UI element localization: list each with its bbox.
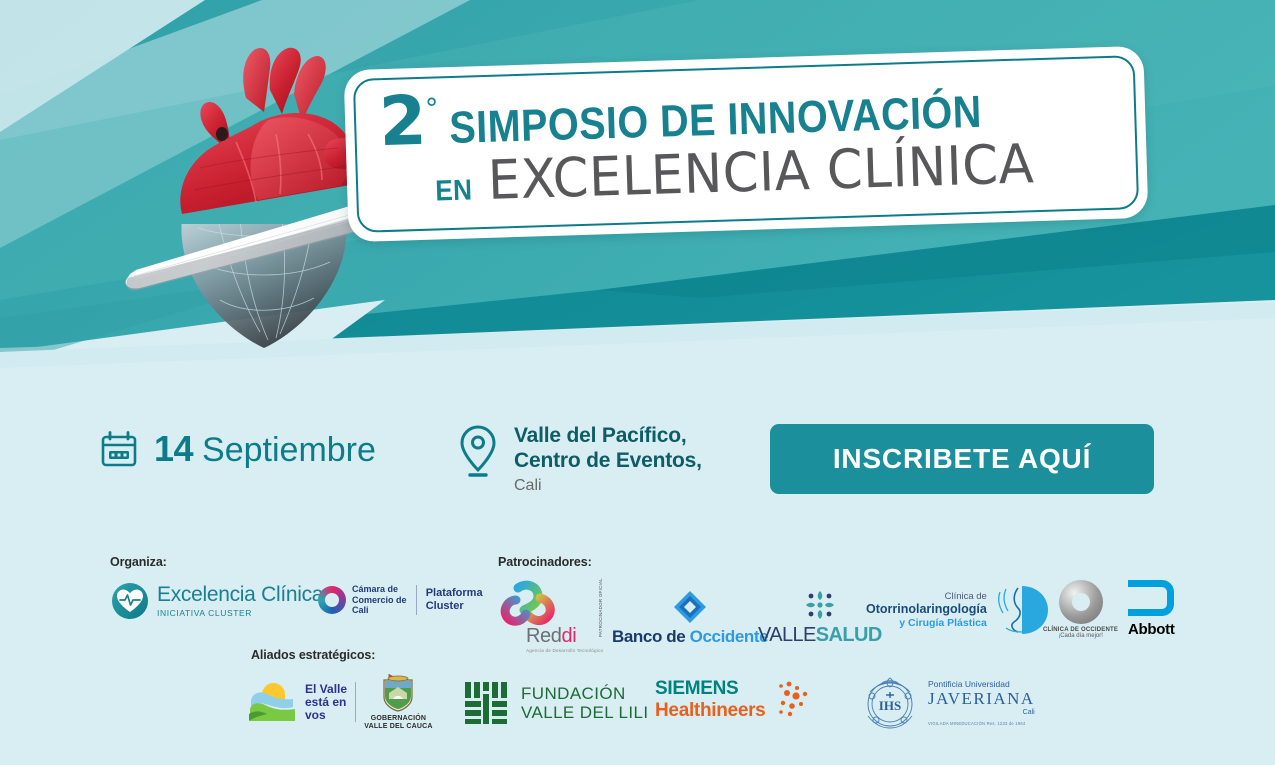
gobernacion-line-1: GOBERNACIÓN <box>364 715 432 723</box>
camara-divider <box>416 585 417 615</box>
vallesalud-word-a: VALLE <box>758 624 816 646</box>
javeriana-line-3: Cali <box>928 709 1035 716</box>
label-aliados: Aliados estratégicos: <box>251 648 375 662</box>
camara-line-1: Cámara de <box>352 584 407 595</box>
logo-pontificia-universidad-javeriana: IHS Pontificia Universidad JAVERIANA Cal… <box>860 672 1035 732</box>
elvalle-divider <box>355 682 356 722</box>
logo-fundacion-valle-del-lili: FUNDACIÓN VALLE DEL LILI <box>463 680 649 726</box>
event-location: Valle del Pacífico, Centro de Eventos, C… <box>458 424 702 495</box>
gobernacion-text: GOBERNACIÓN VALLE DEL CAUCA <box>364 715 432 732</box>
elvalle-line-2: está en <box>305 696 347 709</box>
logo-el-valle-esta-en-vos: El Valle está en vos GOBERNACIÓN VALLE D… <box>247 673 433 732</box>
vallesalud-text: VALLESALUD <box>758 624 882 647</box>
logo-clinica-otorrinolaringologia: Clínica de Otorrinolaringología y Cirugí… <box>866 584 1054 636</box>
label-organiza: Organiza: <box>110 555 167 569</box>
fvl-text: FUNDACIÓN VALLE DEL LILI <box>521 684 649 723</box>
excelencia-name: Excelencia Clínica <box>157 584 323 605</box>
banco-word-b: Occidente <box>690 627 769 646</box>
healthineers-dots-icon <box>771 679 817 721</box>
register-button[interactable]: INSCRIBETE AQUÍ <box>770 424 1154 494</box>
siemens-line-1: SIEMENS <box>655 678 765 700</box>
javeriana-line-2: JAVERIANA <box>928 689 1035 709</box>
abbott-name: Abbott <box>1128 621 1175 638</box>
register-button-label: INSCRIBETE AQUÍ <box>833 443 1091 475</box>
plataforma-line-1: Plataforma <box>426 587 483 600</box>
banco-diamond-icon <box>673 590 707 624</box>
occidente-line-2: ¡Cada día mejor! <box>1058 633 1103 639</box>
otorrino-text: Clínica de Otorrinolaringología y Cirugí… <box>866 591 987 629</box>
event-date: 14 Septiembre <box>100 428 376 470</box>
edition-number: 2 <box>378 90 425 153</box>
javeriana-crest-icon: IHS <box>860 672 920 732</box>
logo-camara-comercio-cali: Cámara de Comercio de Cali Plataforma Cl… <box>318 584 483 616</box>
elvalle-text: El Valle está en vos <box>305 683 347 722</box>
degree-symbol: ° <box>425 93 439 124</box>
reddi-name: Reddi <box>526 626 603 646</box>
excelencia-text: Excelencia Clínica INICIATIVA CLUSTER <box>157 584 323 618</box>
reddi-tagline: Agencia de Desarrollo Tecnológico <box>526 648 603 653</box>
reddi-name-a: Red <box>526 625 562 647</box>
date-day: 14 <box>154 428 193 470</box>
valle-landscape-icon <box>247 680 299 724</box>
logo-reddi: Reddi Agencia de Desarrollo Tecnológico <box>500 580 603 653</box>
camara-line-3: Cali <box>352 605 407 616</box>
svg-text:IHS: IHS <box>879 698 901 713</box>
gobernacion-line-2: VALLE DEL CAUCA <box>364 723 432 731</box>
date-month: Septiembre <box>202 431 376 470</box>
abbott-mark-icon <box>1128 580 1174 616</box>
excelencia-tagline: INICIATIVA CLUSTER <box>157 608 323 618</box>
otorrino-line-3: y Cirugía Plástica <box>866 617 987 629</box>
calendar-icon <box>100 430 138 468</box>
location-line-1: Valle del Pacífico, <box>514 424 702 449</box>
fvl-line-1: FUNDACIÓN <box>521 684 649 703</box>
otorrino-line-2: Otorrinolaringología <box>866 602 987 617</box>
fvl-cross-icon <box>463 680 511 726</box>
elvalle-line-3: vos <box>305 709 347 722</box>
javeriana-text: Pontificia Universidad JAVERIANA Cali VI… <box>928 679 1035 726</box>
elvalle-line-1: El Valle <box>305 683 347 696</box>
fvl-line-2: VALLE DEL LILI <box>521 703 649 722</box>
logo-abbott: Abbott <box>1128 580 1175 638</box>
javeriana-line-1: Pontificia Universidad <box>928 679 1035 689</box>
location-city: Cali <box>514 477 702 495</box>
heart-pulse-icon <box>112 583 148 619</box>
plataforma-cluster-text: Plataforma Cluster <box>426 587 483 613</box>
camara-text: Cámara de Comercio de Cali <box>352 584 407 616</box>
siemens-line-2: Healthineers <box>655 700 765 722</box>
vertical-note: PATROCINADOR OFICIAL <box>598 578 603 637</box>
date-text: 14 Septiembre <box>154 428 376 470</box>
label-patrocinadores: Patrocinadores: <box>498 555 592 569</box>
location-line-2: Centro de Eventos, <box>514 449 702 474</box>
location-pin-icon <box>458 424 498 480</box>
otorrino-line-1: Clínica de <box>866 591 987 602</box>
occidente-disc-icon <box>1059 580 1103 624</box>
logo-banco-de-occidente: Banco de Occidente <box>612 590 768 647</box>
gobernacion-shield-icon <box>381 673 415 713</box>
camara-circle-icon <box>318 586 346 614</box>
vallesalud-mark-icon <box>801 588 839 622</box>
plaque-text-group: 2 ° SIMPOSIO DE INNOVACIÓN EN EXCELENCIA… <box>344 46 1149 242</box>
logo-gobernacion-valle: GOBERNACIÓN VALLE DEL CAUCA <box>364 673 432 732</box>
banco-word-a: Banco de <box>612 627 690 646</box>
siemens-text: SIEMENS Healthineers <box>655 678 765 722</box>
camara-line-2: Comercio de <box>352 595 407 606</box>
title-en: EN <box>435 174 473 208</box>
location-text: Valle del Pacífico, Centro de Eventos, C… <box>514 424 702 495</box>
logo-excelencia-clinica: Excelencia Clínica INICIATIVA CLUSTER <box>112 583 323 619</box>
banco-text: Banco de Occidente <box>612 627 768 647</box>
logo-vallesalud: VALLESALUD <box>758 588 882 647</box>
logo-siemens-healthineers: SIEMENS Healthineers <box>655 678 817 722</box>
reddi-name-b: di <box>562 625 577 647</box>
sponsor-logos-area: Organiza: Patrocinadores: Aliados estrat… <box>0 540 1275 765</box>
title-plaque: 2 ° SIMPOSIO DE INNOVACIÓN EN EXCELENCIA… <box>346 58 1146 230</box>
javeriana-line-4: VIGILADA MINEDUCACIÓN Res. 1233 de 1964 <box>928 721 1035 726</box>
logo-clinica-de-occidente: CLÍNICA DE OCCIDENTE ¡Cada día mejor! <box>1043 580 1118 639</box>
plataforma-line-2: Cluster <box>426 600 483 613</box>
